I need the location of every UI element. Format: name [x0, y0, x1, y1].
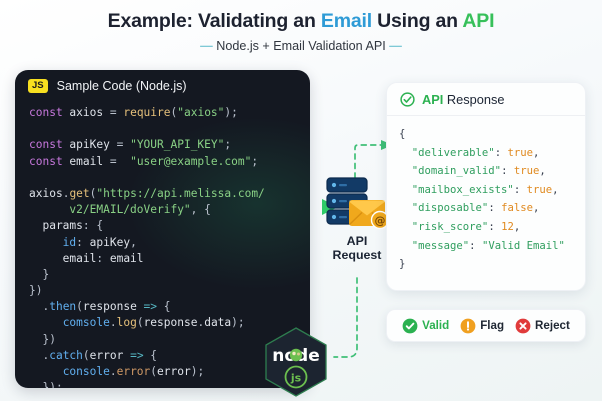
code-token	[399, 240, 412, 252]
code-line: v2/EMAIL/doVerify", {	[29, 202, 310, 218]
code-token: error	[157, 365, 191, 378]
code-token: ,	[552, 184, 558, 196]
code-token: "disposable"	[412, 202, 489, 214]
code-line: "risk_score": 12,	[399, 218, 585, 237]
code-token: "user@example.com"	[130, 155, 251, 168]
code-token: log	[117, 316, 137, 329]
code-token: email	[29, 252, 96, 265]
code-token: =>	[144, 300, 157, 313]
code-line: "deliverable": true,	[399, 144, 585, 163]
code-token: response	[83, 300, 144, 313]
code-line: })	[29, 332, 310, 348]
code-token: 12	[501, 221, 514, 233]
title-api-highlight: API	[462, 10, 494, 32]
code-token: const	[29, 155, 63, 168]
code-token: ,	[533, 202, 539, 214]
code-token: response	[144, 316, 198, 329]
code-token: );	[231, 316, 244, 329]
code-token	[29, 365, 63, 378]
code-token: const	[29, 106, 63, 119]
subtitle-text: Node.js + Email Validation API	[216, 39, 386, 53]
code-token: v2/EMAIL/doVerify"	[69, 203, 190, 216]
code-token: "domain_valid"	[412, 165, 501, 177]
code-token: error	[90, 349, 130, 362]
code-token	[399, 221, 412, 233]
code-token: =>	[130, 349, 143, 362]
api-request-label-line2: Request	[318, 248, 396, 262]
code-line: {	[399, 125, 585, 144]
code-line	[29, 170, 310, 186]
code-line: "mailbox_exists": true,	[399, 181, 585, 200]
status-chip-flag[interactable]: Flag	[460, 318, 504, 334]
code-token: :	[495, 147, 508, 159]
code-token: .	[110, 365, 117, 378]
code-token: email	[63, 155, 110, 168]
email-envelope-icon: @	[349, 200, 389, 229]
code-token: get	[69, 187, 89, 200]
code-line: axios.get("https://api.melissa.com/	[29, 186, 310, 202]
js-badge-icon: JS	[28, 79, 48, 93]
code-token: : {	[83, 219, 103, 232]
api-response-header: API Response	[387, 83, 585, 116]
x-circle-icon	[515, 318, 531, 334]
sample-code-content[interactable]: const axios = require("axios"); const ap…	[15, 99, 310, 388]
code-token: require	[123, 106, 170, 119]
api-request-label-line1: API	[318, 234, 396, 248]
api-request-node: @ API Request	[318, 176, 396, 262]
code-token: (	[76, 300, 83, 313]
code-token: :	[488, 202, 501, 214]
code-token: {	[399, 128, 405, 140]
code-token: catch	[49, 349, 83, 362]
code-token: error	[117, 365, 151, 378]
code-token: false	[501, 202, 533, 214]
code-token: .	[29, 300, 49, 313]
code-token: "message"	[412, 240, 469, 252]
code-line: email: email	[29, 251, 310, 267]
code-token: );	[191, 365, 204, 378]
code-token: })	[29, 284, 42, 297]
code-line: const axios = require("axios");	[29, 105, 310, 121]
status-chip-label: Flag	[480, 319, 504, 332]
code-token: apiKey	[90, 236, 130, 249]
page-title: Example: Validating an Email Using an AP…	[0, 11, 602, 32]
page-header: Example: Validating an Email Using an AP…	[0, 0, 602, 53]
code-token: );	[224, 106, 237, 119]
code-token: email	[110, 252, 144, 265]
code-token: data	[204, 316, 231, 329]
code-line	[29, 121, 310, 137]
code-line: }	[29, 267, 310, 283]
subtitle-dash-right: —	[389, 39, 402, 53]
code-token: true	[507, 147, 533, 159]
api-response-title-api: API	[422, 92, 443, 107]
code-token: });	[29, 381, 63, 388]
status-chip-bar: ValidFlagReject	[386, 309, 586, 342]
code-line: "message": "Valid Email"	[399, 237, 585, 256]
arrow-api-to-response	[355, 145, 382, 178]
code-token: ,	[533, 147, 539, 159]
sample-code-title: Sample Code (Node.js)	[57, 79, 187, 93]
code-token: :	[96, 252, 109, 265]
api-request-label: API Request	[318, 234, 396, 262]
code-token: "risk_score"	[412, 221, 489, 233]
code-line: });	[29, 380, 310, 388]
status-chip-label: Valid	[422, 319, 449, 332]
api-response-title: API Response	[422, 92, 505, 107]
code-token: .	[29, 349, 49, 362]
code-token	[399, 165, 412, 177]
sample-code-card: JS Sample Code (Node.js) const axios = r…	[15, 70, 310, 388]
code-token	[29, 316, 63, 329]
code-token: :	[514, 184, 527, 196]
code-token: =	[110, 106, 117, 119]
code-token: :	[488, 221, 501, 233]
code-token: true	[527, 184, 553, 196]
code-line: const email = "user@example.com";	[29, 154, 310, 170]
status-chip-label: Reject	[535, 319, 570, 332]
svg-text:@: @	[375, 214, 386, 227]
code-token: "deliverable"	[412, 147, 495, 159]
code-token	[399, 147, 412, 159]
code-token: }	[399, 258, 405, 270]
code-line: console.error(error);	[29, 364, 310, 380]
api-response-json: { "deliverable": true, "domain_valid": t…	[387, 116, 585, 274]
code-token: apiKey	[63, 138, 117, 151]
sample-code-header: JS Sample Code (Node.js)	[15, 70, 310, 99]
code-token	[29, 203, 69, 216]
code-token: {	[144, 349, 157, 362]
title-email-highlight: Email	[321, 10, 372, 32]
code-token	[399, 184, 412, 196]
code-token: params	[29, 219, 83, 232]
code-line: "domain_valid": true,	[399, 162, 585, 181]
code-token: "YOUR_API_KEY"	[130, 138, 224, 151]
warning-circle-icon	[460, 318, 476, 334]
code-token	[117, 155, 130, 168]
code-token: :	[501, 165, 514, 177]
code-line: .catch(error => {	[29, 348, 310, 364]
code-token: :	[469, 240, 482, 252]
subtitle-dash-left: —	[200, 39, 213, 53]
code-token: ;	[251, 155, 258, 168]
page-subtitle: — Node.js + Email Validation API —	[0, 39, 602, 53]
status-chip-reject[interactable]: Reject	[515, 318, 570, 334]
check-circle-icon	[402, 318, 418, 334]
code-line: }	[399, 255, 585, 274]
code-token: const	[29, 138, 63, 151]
code-token: console	[63, 365, 110, 378]
code-token: })	[29, 333, 56, 346]
code-token: id	[29, 236, 76, 249]
check-circle-icon	[400, 92, 415, 107]
code-token: ;	[224, 138, 231, 151]
code-line: id: apiKey,	[29, 235, 310, 251]
status-chip-valid[interactable]: Valid	[402, 318, 449, 334]
code-token: "axios"	[177, 106, 224, 119]
code-token: axios	[63, 106, 110, 119]
code-token: ,	[130, 236, 137, 249]
code-token: .	[110, 316, 117, 329]
code-token: {	[157, 300, 170, 313]
code-token	[399, 202, 412, 214]
code-token: =	[110, 155, 117, 168]
code-token: :	[76, 236, 89, 249]
code-token: ,	[539, 165, 545, 177]
code-token: ,	[514, 221, 520, 233]
title-text-2: Using an	[372, 10, 462, 32]
code-token: then	[49, 300, 76, 313]
code-token: "Valid Email"	[482, 240, 565, 252]
code-token: true	[514, 165, 540, 177]
code-line: params: {	[29, 218, 310, 234]
code-token: (	[137, 316, 144, 329]
code-line: .then(response => {	[29, 299, 310, 315]
code-token: , {	[191, 203, 211, 216]
api-response-card: API Response { "deliverable": true, "dom…	[386, 82, 586, 291]
title-text-1: Example: Validating an	[108, 10, 321, 32]
code-token: comsole	[63, 316, 110, 329]
code-line: const apiKey = "YOUR_API_KEY";	[29, 137, 310, 153]
code-token: }	[29, 268, 49, 281]
code-token: "mailbox_exists"	[412, 184, 514, 196]
code-token: (	[83, 349, 90, 362]
api-server-envelope-icon: @	[325, 176, 389, 230]
api-response-title-rest: Response	[443, 92, 504, 107]
code-line: "disposable": false,	[399, 199, 585, 218]
code-token: axios	[29, 187, 63, 200]
code-line: comsole.log(response.data);	[29, 315, 310, 331]
code-line: })	[29, 283, 310, 299]
arrow-api-to-node	[334, 278, 357, 357]
code-token: "https://api.melissa.com/	[96, 187, 264, 200]
